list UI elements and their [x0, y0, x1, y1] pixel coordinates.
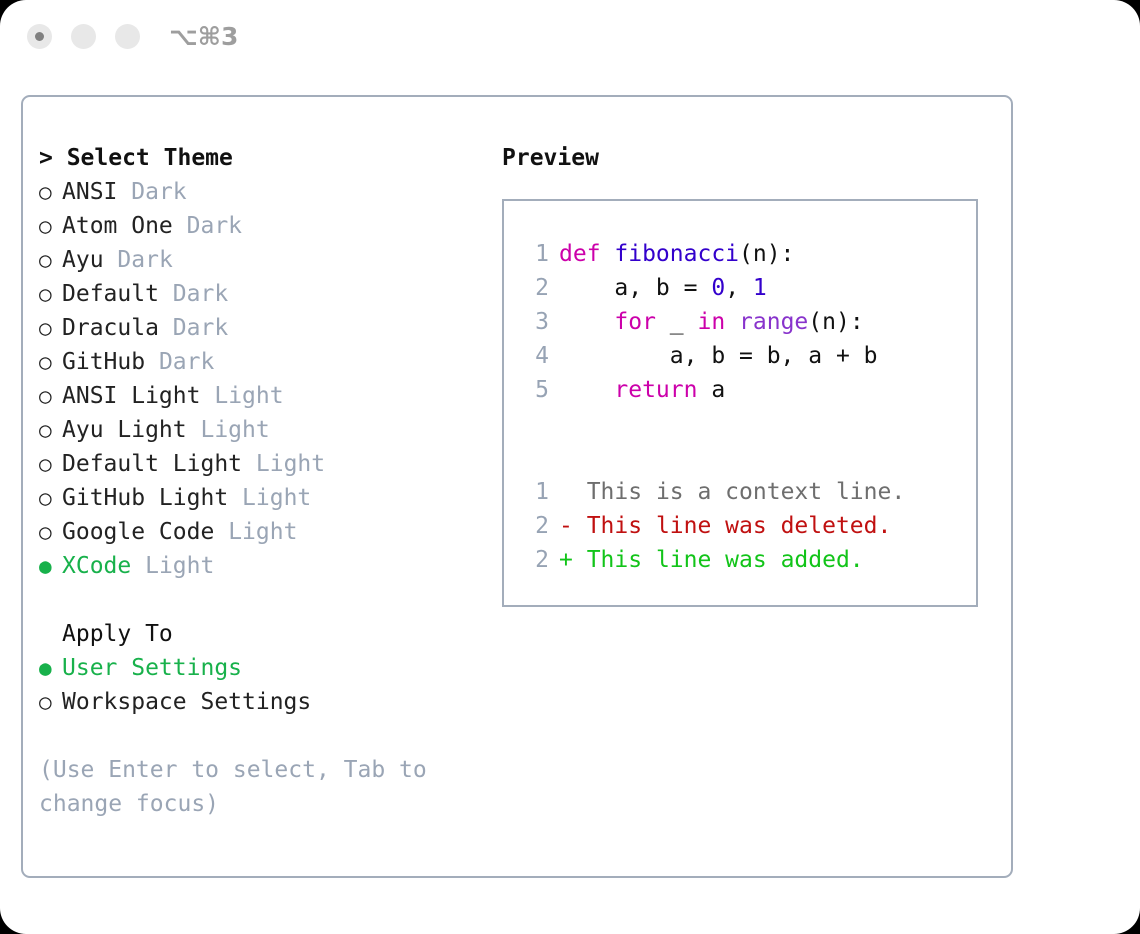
theme-list-item[interactable]: ○ GitHub Light Light: [39, 481, 479, 515]
code-line: 5 return a: [519, 373, 976, 407]
theme-selector-column: > Select Theme ○ ANSI Dark ○ Atom One Da…: [39, 141, 479, 821]
code-text: def fibonacci(n):: [559, 237, 794, 271]
diff-text: This line was deleted.: [573, 509, 892, 543]
theme-name: Default Light: [62, 447, 242, 481]
radio-icon: ○: [39, 209, 62, 243]
code-line: 2 a, b = 0, 1: [519, 271, 976, 305]
radio-selected-icon: ●: [39, 651, 62, 685]
theme-kind: Dark: [117, 175, 186, 209]
theme-kind: Light: [228, 481, 311, 515]
theme-list-item[interactable]: ○ Ayu Light Light: [39, 413, 479, 447]
line-number: 1: [519, 237, 549, 271]
list-spacer: [39, 583, 479, 617]
theme-name: Ayu: [62, 243, 104, 277]
window-dot-active-inner-icon: [35, 32, 44, 41]
main-panel: > Select Theme ○ ANSI Dark ○ Atom One Da…: [21, 95, 1013, 878]
theme-name: GitHub: [62, 345, 145, 379]
preview-separator: [519, 441, 976, 475]
theme-name: Dracula: [62, 311, 159, 345]
apply-to-label: User Settings: [62, 651, 242, 685]
theme-name: ANSI Light: [62, 379, 200, 413]
line-number: 3: [519, 305, 549, 339]
radio-icon: ○: [39, 311, 62, 345]
code-text: for _ in range(n):: [559, 305, 864, 339]
diff-marker: -: [559, 509, 573, 543]
diff-line-deleted: 2 - This line was deleted.: [519, 509, 976, 543]
radio-icon: ○: [39, 515, 62, 549]
line-number: 2: [519, 543, 549, 577]
diff-line-added: 2 + This line was added.: [519, 543, 976, 577]
theme-name: ANSI: [62, 175, 117, 209]
line-number: 5: [519, 373, 549, 407]
apply-to-header: Apply To: [39, 617, 479, 651]
app-window: ⌥⌘3 > Select Theme ○ ANSI Dark ○ Atom On…: [0, 0, 1140, 934]
hint-spacer: [39, 719, 479, 753]
theme-list-item[interactable]: ○ Atom One Dark: [39, 209, 479, 243]
theme-name: Default: [62, 277, 159, 311]
line-number: 4: [519, 339, 549, 373]
theme-list-item[interactable]: ○ GitHub Dark: [39, 345, 479, 379]
title-bar: ⌥⌘3: [0, 0, 1140, 80]
radio-icon: ○: [39, 243, 62, 277]
theme-kind: Dark: [173, 209, 242, 243]
theme-list-item[interactable]: ○ Ayu Dark: [39, 243, 479, 277]
radio-icon: ○: [39, 379, 62, 413]
theme-list-item[interactable]: ○ Google Code Light: [39, 515, 479, 549]
theme-list-item[interactable]: ○ Default Light Light: [39, 447, 479, 481]
theme-kind: Dark: [145, 345, 214, 379]
diff-marker: +: [559, 543, 573, 577]
theme-list-item-selected[interactable]: ● XCode Light: [39, 549, 479, 583]
theme-name: Ayu Light: [62, 413, 187, 447]
keybinding-label: ⌥⌘3: [169, 22, 238, 51]
radio-icon: ○: [39, 277, 62, 311]
line-number: 2: [519, 271, 549, 305]
line-number: 1: [519, 475, 549, 509]
diff-marker: [559, 475, 573, 509]
window-dot-third-icon[interactable]: [115, 24, 140, 49]
theme-name: Google Code: [62, 515, 214, 549]
theme-name: Atom One: [62, 209, 173, 243]
diff-text: This line was added.: [573, 543, 864, 577]
apply-to-option-workspace-settings[interactable]: ○ Workspace Settings: [39, 685, 479, 719]
code-line: 4 a, b = b, a + b: [519, 339, 976, 373]
keyboard-hint-text: (Use Enter to select, Tab to change focu…: [39, 753, 449, 821]
theme-kind: Light: [242, 447, 325, 481]
code-text: a, b = b, a + b: [559, 339, 878, 373]
theme-kind: Light: [131, 549, 214, 583]
window-dot-active-icon[interactable]: [27, 24, 52, 49]
radio-icon: ○: [39, 481, 62, 515]
theme-kind: Light: [214, 515, 297, 549]
theme-list-item[interactable]: ○ Dracula Dark: [39, 311, 479, 345]
code-line: 1 def fibonacci(n):: [519, 237, 976, 271]
window-controls: [27, 24, 140, 49]
preview-title: Preview: [502, 141, 992, 175]
radio-icon: ○: [39, 413, 62, 447]
code-line: 3 for _ in range(n):: [519, 305, 976, 339]
theme-kind: Dark: [159, 311, 228, 345]
preview-column: Preview 1 def fibonacci(n): 2 a, b = 0, …: [502, 141, 992, 607]
diff-text: This is a context line.: [573, 475, 905, 509]
code-text: return a: [559, 373, 725, 407]
theme-kind: Light: [200, 379, 283, 413]
radio-icon: ○: [39, 447, 62, 481]
code-text: a, b = 0, 1: [559, 271, 767, 305]
theme-name: XCode: [62, 549, 131, 583]
apply-to-list: ● User Settings ○ Workspace Settings: [39, 651, 479, 719]
theme-kind: Light: [187, 413, 270, 447]
select-theme-header: > Select Theme: [39, 141, 479, 175]
preview-box: 1 def fibonacci(n): 2 a, b = 0, 1 3 for …: [502, 199, 978, 607]
window-dot-second-icon[interactable]: [71, 24, 96, 49]
radio-icon: ○: [39, 685, 62, 719]
radio-icon: ○: [39, 345, 62, 379]
theme-kind: Dark: [104, 243, 173, 277]
theme-list-item[interactable]: ○ ANSI Dark: [39, 175, 479, 209]
diff-line-context: 1 This is a context line.: [519, 475, 976, 509]
theme-list-item[interactable]: ○ ANSI Light Light: [39, 379, 479, 413]
apply-to-option-user-settings[interactable]: ● User Settings: [39, 651, 479, 685]
line-number: 2: [519, 509, 549, 543]
theme-list: ○ ANSI Dark ○ Atom One Dark ○ Ayu Dark ○…: [39, 175, 479, 583]
radio-selected-icon: ●: [39, 549, 62, 583]
apply-to-label: Workspace Settings: [62, 685, 311, 719]
radio-icon: ○: [39, 175, 62, 209]
preview-separator: [519, 407, 976, 441]
theme-list-item[interactable]: ○ Default Dark: [39, 277, 479, 311]
theme-kind: Dark: [159, 277, 228, 311]
theme-name: GitHub Light: [62, 481, 228, 515]
